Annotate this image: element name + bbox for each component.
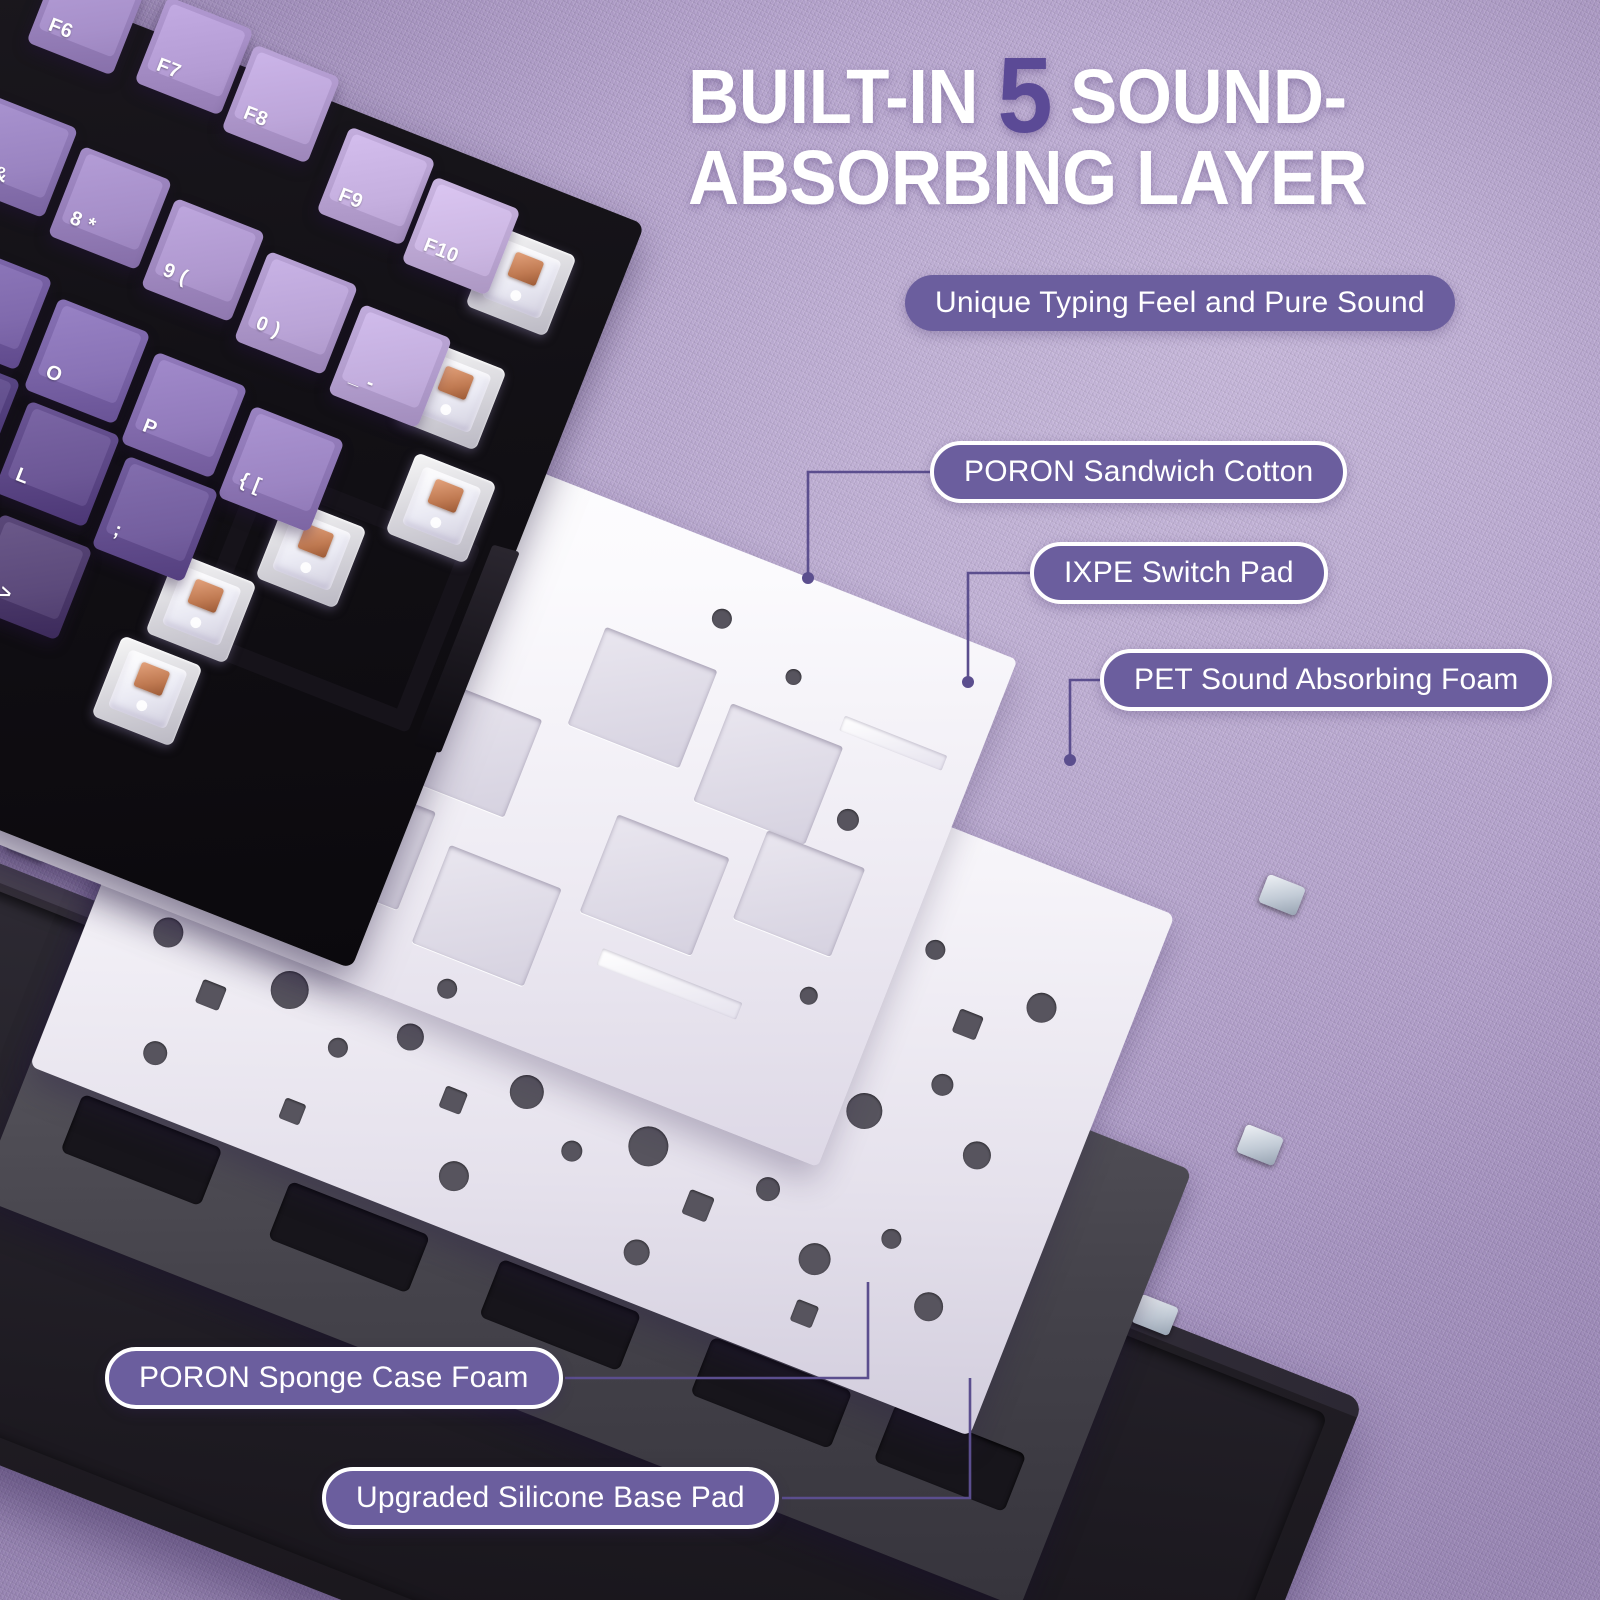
callout-pet-sound-absorbing-foam: PET Sound Absorbing Foam: [1100, 649, 1552, 711]
callout-poron-sponge-case-foam: PORON Sponge Case Foam: [105, 1347, 563, 1409]
headline-line1-a: BUILT-IN: [688, 54, 978, 140]
callout-poron-sandwich-cotton: PORON Sandwich Cotton: [930, 441, 1347, 503]
subtitle-pill: Unique Typing Feel and Pure Sound: [905, 275, 1455, 331]
case-clip: [1258, 874, 1306, 917]
callout-ixpe-switch-pad: IXPE Switch Pad: [1030, 542, 1328, 604]
page-headline: BUILT-IN 5 SOUND- ABSORBING LAYER: [688, 52, 1516, 216]
headline-line1-b: SOUND-: [1070, 54, 1347, 140]
case-clip: [1236, 1124, 1284, 1167]
headline-line2: ABSORBING LAYER: [688, 142, 1516, 216]
callout-upgraded-silicone-base-pad: Upgraded Silicone Base Pad: [322, 1467, 779, 1529]
